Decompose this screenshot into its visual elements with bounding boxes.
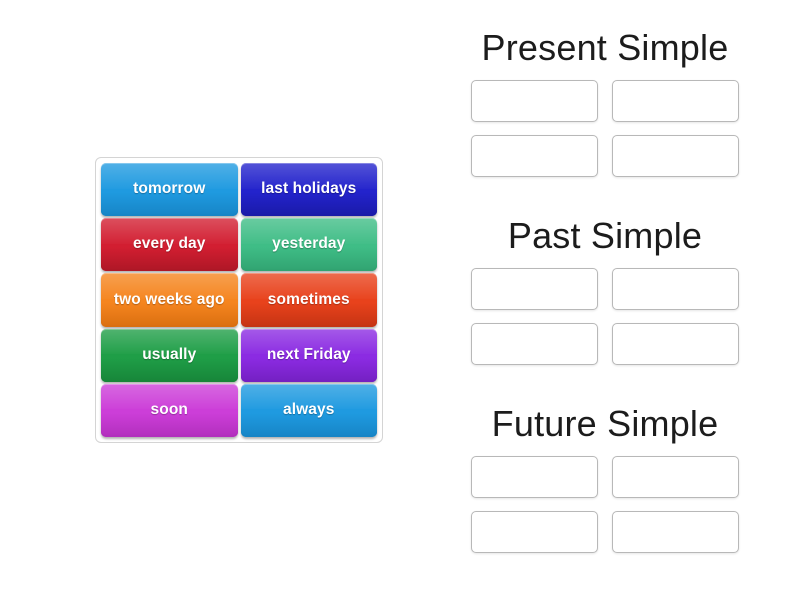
answer-dropzone[interactable] (471, 511, 598, 553)
word-tile-label: tomorrow (133, 181, 205, 198)
word-tile[interactable]: soon (101, 384, 238, 437)
word-tile-label: two weeks ago (114, 292, 225, 309)
word-tile-label: usually (142, 347, 196, 364)
answer-dropzone[interactable] (612, 268, 739, 310)
category-group: Past Simple (410, 218, 800, 365)
answer-dropzone[interactable] (471, 456, 598, 498)
answer-dropzone[interactable] (471, 80, 598, 122)
word-tile[interactable]: last holidays (241, 163, 378, 216)
answer-dropzone[interactable] (612, 456, 739, 498)
answer-dropzone[interactable] (612, 511, 739, 553)
dropzone-grid (410, 456, 800, 553)
word-tile[interactable]: next Friday (241, 329, 378, 382)
answer-dropzone[interactable] (612, 80, 739, 122)
word-tile[interactable]: two weeks ago (101, 273, 238, 326)
word-tile-label: yesterday (272, 236, 345, 253)
answer-dropzone[interactable] (471, 323, 598, 365)
word-tile[interactable]: every day (101, 218, 238, 271)
word-tile[interactable]: always (241, 384, 378, 437)
category-title: Future Simple (410, 406, 800, 442)
word-tile[interactable]: yesterday (241, 218, 378, 271)
category-column: Present SimplePast SimpleFuture Simple (410, 0, 800, 600)
word-tile[interactable]: tomorrow (101, 163, 238, 216)
answer-dropzone[interactable] (612, 135, 739, 177)
word-tile-label: sometimes (268, 292, 350, 309)
category-title: Past Simple (410, 218, 800, 254)
category-group: Future Simple (410, 406, 800, 553)
word-tile-label: last holidays (261, 181, 356, 198)
category-title: Present Simple (410, 30, 800, 66)
word-tile-label: next Friday (267, 347, 351, 364)
category-group: Present Simple (410, 30, 800, 177)
answer-dropzone[interactable] (471, 135, 598, 177)
word-tile-label: every day (133, 236, 205, 253)
answer-dropzone[interactable] (471, 268, 598, 310)
dropzone-grid (410, 80, 800, 177)
word-tile-grid: tomorrowlast holidaysevery dayyesterdayt… (101, 163, 377, 437)
word-tile[interactable]: sometimes (241, 273, 378, 326)
word-tile-label: always (283, 402, 334, 419)
dropzone-grid (410, 268, 800, 365)
word-tile[interactable]: usually (101, 329, 238, 382)
word-tile-tray: tomorrowlast holidaysevery dayyesterdayt… (95, 157, 383, 443)
answer-dropzone[interactable] (612, 323, 739, 365)
word-tile-label: soon (151, 402, 188, 419)
